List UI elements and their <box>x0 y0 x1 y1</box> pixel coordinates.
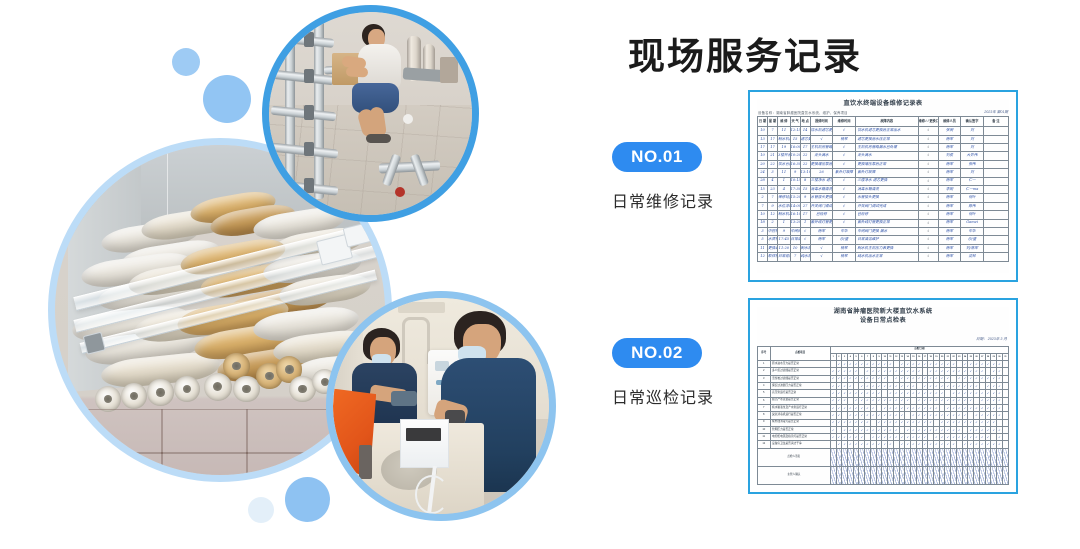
doc2-signature-cell <box>1002 466 1008 484</box>
doc2-footer-label: 主管人确认 <box>758 466 831 484</box>
doc1-cell: 11 <box>758 244 768 252</box>
doc1-cell <box>983 194 1008 202</box>
doc1-cell: 7 <box>768 194 778 202</box>
doc1-cell: 16:00 <box>790 144 800 152</box>
doc1-title: 直饮水终端设备维修记录表 <box>757 99 1009 108</box>
caption-daily-maintenance-record: 日常维修记录 <box>612 188 714 212</box>
doc1-cell: 主机机房管路漏水已处理 <box>810 144 833 152</box>
doc1-cell: 制水机水管接头维修完成 <box>778 211 791 219</box>
doc2-cell-check <box>1002 434 1008 441</box>
doc1-cell: √ <box>918 194 938 202</box>
doc1-cell: 杨军 <box>938 135 961 143</box>
doc1-cell <box>983 211 1008 219</box>
doc1-cell: 饮水机滤芯更换后正常出水 <box>855 127 918 135</box>
doc1-cell: 纯水机出水正常 <box>800 253 810 261</box>
decorative-dot-large-upper <box>203 75 251 123</box>
doc1-cell: 17:30 <box>790 186 800 194</box>
doc1-cell: 杨军 <box>938 253 961 261</box>
doc2-cell-item: 原水进水压力是否正常 <box>770 361 830 368</box>
doc1-cell: 杨军 <box>938 202 961 210</box>
doc1-cell: 更换增压泵后正常 <box>810 160 833 168</box>
doc1-cell <box>983 236 1008 244</box>
doc1-cell: 10 <box>758 211 768 219</box>
doc1-cell: 何叶 <box>961 194 984 202</box>
doc2-cell-item: 紫外线消毒灯是否正常 <box>770 419 830 426</box>
doc1-row: 12取样检测日常巡检7纯水机出水正常√杨军纯水机出水正常√杨军沈林 <box>758 253 1009 261</box>
doc1-cell: 中间阀门更换 漏水 <box>855 227 918 235</box>
doc1-cell: 紫外灯故障 <box>855 169 918 177</box>
document-page-1: 直饮水终端设备维修记录表 设备名称：湖南省肿瘤医院直饮水系统、维护、保养项目 2… <box>757 99 1009 273</box>
doc2-cell-item: 膜壳产水流量是否正常 <box>770 397 830 404</box>
doc1-cell: 10 <box>758 127 768 135</box>
doc1-cell: 制水机主机压力表更换 <box>800 244 810 252</box>
doc1-cell <box>983 253 1008 261</box>
doc1-cell: 刘 <box>961 127 984 135</box>
doc1-cell: 饮水台压力低 <box>778 160 791 168</box>
doc1-cell: 滤芯更换后水压正常 <box>800 135 810 143</box>
doc1-row: 284110:158三楼净水 滤芯更换√三楼净水 滤芯更换√杨军仁一 <box>758 177 1009 185</box>
doc1-col-1: 星 期 <box>768 117 778 127</box>
doc1-cell: 3楼开水器不出水 <box>778 152 791 160</box>
doc1-cell: √ <box>918 152 938 160</box>
doc1-row: 1012制水机水管接头维修完成16:1017已检修√已检修√杨军何叶 <box>758 211 1009 219</box>
doc1-cell: 1 <box>800 219 810 227</box>
doc2-cell-check <box>1002 397 1008 404</box>
doc1-cell: 杨军 <box>938 227 961 235</box>
doc2-cell-seq: 3 <box>758 375 771 382</box>
doc1-subtitle: 设备名称：湖南省肿瘤医院直饮水系统、维护、保养项目 <box>758 110 848 115</box>
doc1-cell <box>983 186 1008 194</box>
doc1-cell: 17 <box>758 144 768 152</box>
doc2-cell-check <box>1002 368 1008 375</box>
doc1-cell: 取样检测 <box>768 253 778 261</box>
doc1-cell: 22 <box>800 160 810 168</box>
doc1-cell: 杨军 <box>938 211 961 219</box>
doc1-cell: 刘俊 <box>938 152 961 160</box>
doc1-cell <box>983 135 1008 143</box>
doc1-cell: 已检修 <box>810 211 833 219</box>
doc1-cell: 仁一ma <box>961 186 984 194</box>
doc1-col-11: 备 注 <box>983 117 1008 127</box>
decorative-dot-large-lower <box>285 477 330 522</box>
document-page-2: 湖南省肿瘤医院新大楼直饮水系统 设备日常点检表 日期： 2023年 3 月 序号… <box>757 307 1009 485</box>
doc1-col-7: 故障内容 <box>855 117 918 127</box>
doc1-cell: √ <box>833 202 856 210</box>
doc1-cell: 14:00 <box>790 202 800 210</box>
photo-technician-at-piping-skid <box>262 5 479 222</box>
doc1-cell: 水管接头更换 <box>855 194 918 202</box>
doc2-cell-check <box>1002 412 1008 419</box>
doc2-cell-check <box>1002 361 1008 368</box>
doc1-cell <box>983 202 1008 210</box>
badge-no-02: NO.02 <box>612 338 702 368</box>
service-record-slide: 现场服务记录 NO.01 日常维修记录 NO.02 日常巡检记录 直饮水终端设备… <box>0 0 1080 549</box>
doc2-signature-cell <box>1002 448 1008 466</box>
doc1-col-9: 维修人员 <box>938 117 961 127</box>
doc1-cell <box>983 160 1008 168</box>
doc1-cell: 大彭伟 <box>961 152 984 160</box>
doc1-cell: 11:20 <box>778 244 791 252</box>
doc2-meta: 日期： 2023年 3 月 <box>976 337 1007 341</box>
doc1-cell: 13 <box>758 135 768 143</box>
doc1-cell: 中控柜电源检查 <box>768 227 778 235</box>
doc2-cell-item: 多介质过滤器是否正常 <box>770 368 830 375</box>
doc1-cell: √ <box>833 211 856 219</box>
doc1-row: 182113:201紫外线灯管更换正常√紫外线灯管更换正常√杨军Gamei <box>758 219 1009 227</box>
doc1-cell: 4 <box>778 186 791 194</box>
doc1-cell: 18 <box>758 219 768 227</box>
doc1-cell: √ <box>833 194 856 202</box>
doc2-title-line1: 湖南省肿瘤医院新大楼直饮水系统 <box>757 307 1009 316</box>
doc1-cell: 14 <box>800 127 810 135</box>
doc1-cell: 19 <box>778 144 791 152</box>
doc1-row: 79水位浮球更换14:0027开关阀门调试完成√开关阀门调试完成√杨军陈伟 <box>758 202 1009 210</box>
doc1-cell: 3 <box>768 169 778 177</box>
doc1-cell: 7 <box>758 202 768 210</box>
doc1-cell: 杨军 <box>938 244 961 252</box>
doc1-row: 11更换滤芯11:2010制水机主机压力表更换√杨军制水机主机压力表更换√杨军刘… <box>758 244 1009 252</box>
doc1-cell: 11 <box>778 169 791 177</box>
doc2-cell-check <box>1002 426 1008 433</box>
doc1-cell: √ <box>833 127 856 135</box>
doc2-cell-seq: 5 <box>758 390 771 397</box>
doc2-row: 9紫外线消毒灯是否正常✓✓✓✓✓✓✓✓✓✓✓✓✓✓✓✓✓✓✓✓✓✓✓✓✓✓✓ <box>758 419 1009 426</box>
doc2-col-seq: 序号 <box>758 346 771 361</box>
doc1-cell: 刘/陈军 <box>961 244 984 252</box>
doc1-cell: √ <box>918 144 938 152</box>
doc1-cell: √ <box>800 236 810 244</box>
doc1-cell: 主机机房管路漏水已处理 <box>855 144 918 152</box>
doc1-cell: 8 <box>800 177 810 185</box>
doc2-cell-item: 设备房卫生是否清洁干净 <box>770 441 830 448</box>
doc2-footer-label: 备 注 <box>758 484 831 485</box>
document-inspection-record[interactable]: 湖南省肿瘤医院新大楼直饮水系统 设备日常点检表 日期： 2023年 3 月 序号… <box>748 298 1018 494</box>
doc1-cell: 刘 <box>961 144 984 152</box>
doc1-cell: √ <box>833 160 856 168</box>
doc1-cell: √ <box>918 236 938 244</box>
doc1-cell: 纯水机出水正常 <box>855 253 918 261</box>
doc2-cell-seq: 4 <box>758 383 771 390</box>
doc1-cell: 2 <box>758 194 768 202</box>
doc1-cell: 22 <box>768 160 778 168</box>
doc1-cell: 龙头滴水 <box>810 152 833 160</box>
doc1-cell: 28 <box>758 177 768 185</box>
doc1-cell: 紫外灯故障 <box>833 169 856 177</box>
doc1-cell: 21 <box>768 152 778 160</box>
doc2-footer-row: 点检人签名 <box>758 448 1009 466</box>
doc2-cell-seq: 10 <box>758 426 771 433</box>
doc1-cell: 沙/盛 <box>961 236 984 244</box>
doc1-cell: 24 <box>758 169 768 177</box>
doc1-cell: 17:45 <box>778 236 791 244</box>
doc2-cell-check <box>1002 375 1008 382</box>
doc1-cell: 何叶 <box>961 211 984 219</box>
doc2-title-line2: 设备日常点检表 <box>757 316 1009 325</box>
doc1-cell: 水管接头更换 <box>810 194 833 202</box>
doc1-cell: 杨军 <box>938 144 961 152</box>
doc1-cell: 更换增压泵后正常 <box>855 160 918 168</box>
doc1-cell: 11 <box>778 127 791 135</box>
doc1-cell: 杨军 <box>938 169 961 177</box>
doc1-table: 日 期 星 期 维 修 天 气 地 点 报修时间 维修时间 故障内容 维修√ /… <box>757 116 1009 261</box>
doc1-cell: 10 <box>758 152 768 160</box>
doc1-cell: 水质检测 8 <box>768 236 778 244</box>
doc1-cell: 17 <box>800 144 810 152</box>
doc1-cell: 20 <box>758 160 768 168</box>
doc1-cell: 紫外线灯管更换正常 <box>810 219 833 227</box>
doc1-cell: 开关阀门调试完成 <box>855 202 918 210</box>
doc1-cell: 杨军 <box>938 194 961 202</box>
doc1-cell: 9 <box>790 169 800 177</box>
doc1-cell: 日常巡检 <box>778 253 791 261</box>
doc1-cell: 13:10 <box>800 169 810 177</box>
doc1-row: 1523417:3015消毒水箱清洗√消毒水箱清洗√李刚仁一ma <box>758 186 1009 194</box>
doc1-cell: 16:10 <box>790 211 800 219</box>
doc1-cell: 制水机出水口 <box>778 135 791 143</box>
doc2-cell-check <box>1002 404 1008 411</box>
doc1-cell: 9 <box>778 227 791 235</box>
doc1-col-5: 报修时间 <box>810 117 833 127</box>
doc2-row: 6膜壳产水流量是否正常✓✓✓✓✓✓✓✓✓✓✓✓✓✓✓✓✓✓✓✓✓✓✓✓✓✓✓ <box>758 397 1009 404</box>
badge-no-01: NO.01 <box>612 142 702 172</box>
doc1-cell: 沈林 <box>961 253 984 261</box>
doc1-cell: 23 <box>768 186 778 194</box>
doc1-cell: 杨军 <box>938 160 961 168</box>
doc1-cell: 9 <box>800 194 810 202</box>
doc1-cell: 10:15 <box>790 177 800 185</box>
doc1-cell: 17 <box>800 211 810 219</box>
doc1-cell: 杨军 <box>810 227 833 235</box>
doc2-col-group: 点检日期 <box>830 346 1008 353</box>
doc2-cell-seq: 9 <box>758 419 771 426</box>
doc1-cell: 张伟 <box>961 160 984 168</box>
doc1-cell: 紫外线灯管更换正常 <box>855 219 918 227</box>
doc2-cell-seq: 12 <box>758 441 771 448</box>
doc1-cell: 1 <box>778 219 791 227</box>
doc1-cell: 15 <box>758 186 768 194</box>
doc2-footer-row: 主管人确认 <box>758 466 1009 484</box>
doc1-cell: 7 <box>768 127 778 135</box>
doc1-cell: √ <box>810 244 833 252</box>
doc1-row: 1071112:1514饮水机滤芯更换后正常出水√饮水机滤芯更换后正常出水√张明… <box>758 127 1009 135</box>
doc2-footer-row: 备 注一、点检人员于每日设备运行前后点检。二、点检情况正常打"√"，异常打"×"… <box>758 484 1009 485</box>
doc1-cell: 张明 <box>938 127 961 135</box>
doc2-cell-check <box>1002 441 1008 448</box>
doc1-col-8: 维修√ / 更换口 <box>918 117 938 127</box>
doc1-cell: 中华 <box>833 227 856 235</box>
doc1-cell: √ <box>918 219 938 227</box>
doc1-cell: 制水机主机压力表更换 <box>855 244 918 252</box>
doc2-col-item: 点检项目 <box>770 346 830 361</box>
doc1-cell: 12 <box>758 253 768 261</box>
doc1-col-10: 确认签字 <box>961 117 984 127</box>
doc1-cell: 22 <box>800 152 810 160</box>
doc2-row: 8臭氧消毒机运行是否正常✓✓✓✓✓✓✓✓✓✓✓✓✓✓✓✓✓✓✓✓✓✓✓✓✓✓✓ <box>758 412 1009 419</box>
doc2-cell-item: 电控柜电源及指示灯是否正常 <box>770 434 830 441</box>
doc1-cell: 杨军 <box>833 253 856 261</box>
doc1-cell: 滤芯更换后水压正常 <box>855 135 918 143</box>
doc1-col-3: 天 气 <box>790 117 800 127</box>
document-maintenance-record[interactable]: 直饮水终端设备维修记录表 设备名称：湖南省肿瘤医院直饮水系统、维护、保养项目 2… <box>748 90 1018 282</box>
doc1-row: 24311913:1026紫外灯故障紫外灯故障√杨军刘 <box>758 169 1009 177</box>
doc1-cell: √ <box>833 177 856 185</box>
doc1-header-row: 日 期 星 期 维 修 天 气 地 点 报修时间 维修时间 故障内容 维修√ /… <box>758 117 1009 127</box>
doc1-row: 2022饮水台压力低16:3022更换增压泵后正常√更换增压泵后正常√杨军张伟 <box>758 160 1009 168</box>
doc1-cell: 李刚 <box>938 186 961 194</box>
doc2-cell-seq: 11 <box>758 434 771 441</box>
doc1-cell: 三楼净水 滤芯更换 <box>855 177 918 185</box>
doc2-row: 3活性炭过滤器是否正常✓✓✓✓✓✓✓✓✓✓✓✓✓✓✓✓✓✓✓✓✓✓✓✓✓✓✓✓ <box>758 375 1009 382</box>
doc1-cell: Gamei <box>961 219 984 227</box>
doc1-cell: 已检修 <box>855 211 918 219</box>
doc1-col-4: 地 点 <box>800 117 810 127</box>
doc1-cell: 1 <box>778 177 791 185</box>
doc2-row: 10管网压力是否正常✓✓✓✓✓✓✓✓✓✓✓✓✓✓✓✓✓✓✓✓✓✓✓✓✓✓✓ <box>758 426 1009 433</box>
doc2-cell-item: 臭氧消毒机运行是否正常 <box>770 412 830 419</box>
doc2-header-row-1: 序号 点检项目 点检日期 <box>758 346 1009 353</box>
doc1-cell: 15 <box>790 135 800 143</box>
doc1-col-6: 维修时间 <box>833 117 856 127</box>
doc1-cell: 刘 <box>961 169 984 177</box>
doc1-cell: √ <box>918 127 938 135</box>
doc2-row: 2多介质过滤器是否正常✓✓✓✓✓✓✓✓✓✓✓✓✓✓✓✓✓✓✓✓✓✓✓✓✓✓✓ <box>758 368 1009 375</box>
doc2-table: 序号 点检项目 点检日期 123456789101112131415161718… <box>757 346 1009 485</box>
doc2-note-cell: 一、点检人员于每日设备运行前后点检。二、点检情况正常打"√"，异常打"×"，已调… <box>830 484 1008 485</box>
doc2-cell-item: 管网压力是否正常 <box>770 426 830 433</box>
doc1-cell: √ <box>833 152 856 160</box>
doc1-cell: 日常清洁维护 <box>855 236 918 244</box>
doc2-day-header: 31 <box>1002 353 1008 360</box>
doc1-cell: 日常清洁维护 <box>790 236 800 244</box>
doc1-cell: 杨军 <box>810 236 833 244</box>
doc1-cell: 消毒水箱清洗 <box>855 186 918 194</box>
doc2-row: 1原水进水压力是否正常✓✓✓✓✓✓✓✓✓✓✓✓✓✓✓✓✓✓✓✓✓✓✓✓✓✓✓ <box>758 361 1009 368</box>
doc1-col-0: 日 期 <box>758 117 768 127</box>
doc2-cell-seq: 2 <box>758 368 771 375</box>
doc1-cell: 10 <box>790 244 800 252</box>
doc1-cell: √ <box>918 160 938 168</box>
doc2-cell-item: 保安过滤器压力是否正常 <box>770 383 830 390</box>
doc1-cell: √ <box>918 186 938 194</box>
doc1-col-2: 维 修 <box>778 117 791 127</box>
doc1-cell: 中华 <box>961 227 984 235</box>
doc1-cell: √ <box>800 227 810 235</box>
doc1-cell: √ <box>833 144 856 152</box>
doc1-row: 3中控柜电源检查9中间阀门更换 漏水√杨军中华中间阀门更换 漏水√杨军中华 <box>758 227 1009 235</box>
doc1-cell: 保修站已修 <box>778 194 791 202</box>
doc2-cell-check <box>1002 383 1008 390</box>
doc1-cell: 12 <box>768 211 778 219</box>
doc2-cell-check <box>1002 419 1008 426</box>
doc1-cell: 5 <box>758 236 768 244</box>
doc2-row: 11电控柜电源及指示灯是否正常✓✓✓✓✓✓✓✓✓✓✓✓✓✓✓✓✓✓✓✓✓✓✓✓✓… <box>758 434 1009 441</box>
doc1-cell: √ <box>918 244 938 252</box>
doc1-cell: 16:30 <box>790 160 800 168</box>
doc2-cell-item: 活性炭过滤器是否正常 <box>770 375 830 382</box>
doc1-cell: √ <box>918 169 938 177</box>
doc1-cell: 杨军 <box>938 236 961 244</box>
doc1-cell: 9 <box>768 202 778 210</box>
caption-daily-inspection-record: 日常巡检记录 <box>612 384 714 408</box>
doc1-cell <box>983 177 1008 185</box>
decorative-dot-small-upper <box>172 48 200 76</box>
doc1-cell: 沙/盛 <box>833 236 856 244</box>
doc2-row: 7纯水箱液位及产水泵运行正常✓✓✓✓✓✓✓✓✓✓✓✓✓✓✓✓✓✓✓✓✓✓✓✓✓✓… <box>758 404 1009 411</box>
decorative-dot-small-lower <box>248 497 274 523</box>
doc1-cell: √ <box>918 202 938 210</box>
doc1-cell: 13:20 <box>790 219 800 227</box>
doc1-cell: 开关阀门调试完成 <box>810 202 833 210</box>
doc1-cell: √ <box>918 227 938 235</box>
doc1-cell: 杨军 <box>833 135 856 143</box>
doc1-cell: 12:15 <box>790 127 800 135</box>
doc1-row: 10213楼开水器不出水10:2022龙头滴水√龙头滴水√刘俊大彭伟 <box>758 152 1009 160</box>
doc1-cell: 杨军 <box>938 177 961 185</box>
doc1-cell: 更换滤芯 <box>768 244 778 252</box>
doc1-cell: √ <box>833 219 856 227</box>
page-title: 现场服务记录 <box>628 26 862 80</box>
doc1-cell: 7 <box>790 253 800 261</box>
doc1-cell: 17 <box>768 135 778 143</box>
doc1-cell: 三楼净水 滤芯更换 <box>810 177 833 185</box>
doc1-row: 1317制水机出水口15滤芯更换后水压正常√杨军滤芯更换后水压正常√杨军刘 <box>758 135 1009 143</box>
doc1-cell: 3 <box>758 227 768 235</box>
photo-two-technicians-servicing-dispenser <box>326 291 556 521</box>
doc1-meta: 2023年 第01期 <box>984 110 1008 115</box>
doc1-row: 27保修站已修15:209水管接头更换√水管接头更换√杨军何叶 <box>758 194 1009 202</box>
doc2-row: 5高压泵运行是否正常✓✓✓✓✓✓✓✓✓✓✓✓✓✓✓✓✓✓✓✓✓✓✓✓✓✓✓✓ <box>758 390 1009 397</box>
doc2-cell-seq: 1 <box>758 361 771 368</box>
doc1-cell: √ <box>918 135 938 143</box>
doc1-cell <box>983 227 1008 235</box>
doc2-row: 12设备房卫生是否清洁干净✓✓✓✓✓✓✓✓✓✓✓✓✓✓✓✓✓✓✓✓✓✓✓✓✓✓✓ <box>758 441 1009 448</box>
doc1-cell: 刘 <box>961 135 984 143</box>
doc1-cell: 27 <box>800 202 810 210</box>
doc2-cell-item: 纯水箱液位及产水泵运行正常 <box>770 404 830 411</box>
doc2-footer-label: 点检人签名 <box>758 448 831 466</box>
doc1-cell <box>983 152 1008 160</box>
doc1-cell: 中间阀门更换 漏水 <box>790 227 800 235</box>
doc1-cell: 水位浮球更换 <box>778 202 791 210</box>
doc1-cell: 杨军 <box>833 244 856 252</box>
doc1-cell: 饮水机滤芯更换后正常出水 <box>810 127 833 135</box>
doc1-cell: 15:20 <box>790 194 800 202</box>
doc2-row: 4保安过滤器压力是否正常✓✓✓✓✓✓✓✓✓✓✓✓✓✓✓✓✓✓✓✓✓✓✓✓✓✓✓ <box>758 383 1009 390</box>
doc1-cell: 陈伟 <box>961 202 984 210</box>
doc1-row: 17171916:0017主机机房管路漏水已处理√主机机房管路漏水已处理√杨军刘 <box>758 144 1009 152</box>
doc1-cell <box>983 127 1008 135</box>
doc1-cell <box>983 244 1008 252</box>
doc1-cell: 10:20 <box>790 152 800 160</box>
doc1-cell: √ <box>918 253 938 261</box>
doc1-cell: 仁一 <box>961 177 984 185</box>
doc1-cell: 15 <box>800 186 810 194</box>
doc1-cell <box>983 144 1008 152</box>
doc1-cell: 杨军 <box>938 219 961 227</box>
doc1-cell: 4 <box>768 177 778 185</box>
doc2-cell-seq: 6 <box>758 397 771 404</box>
doc1-cell: 龙头滴水 <box>855 152 918 160</box>
doc1-cell: 26 <box>810 169 833 177</box>
doc2-cell-check <box>1002 390 1008 397</box>
doc1-cell <box>983 219 1008 227</box>
doc1-cell: √ <box>810 135 833 143</box>
doc1-cell: 2 <box>768 219 778 227</box>
doc2-cell-item: 高压泵运行是否正常 <box>770 390 830 397</box>
doc1-cell: √ <box>833 186 856 194</box>
doc1-cell <box>983 169 1008 177</box>
doc1-cell: 消毒水箱清洗 <box>810 186 833 194</box>
